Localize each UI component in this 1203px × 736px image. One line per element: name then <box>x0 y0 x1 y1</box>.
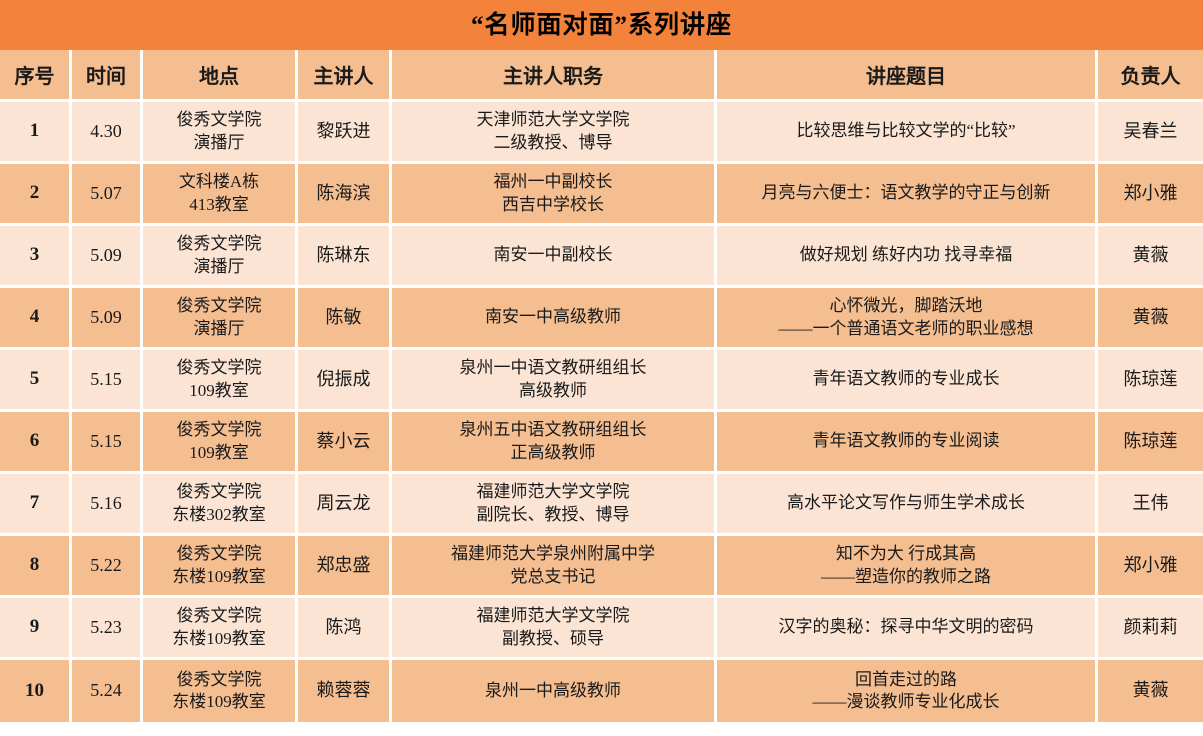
cell-topic: 汉字的奥秘：探寻中华文明的密码 <box>717 598 1098 660</box>
table-row: 85.22俊秀文学院东楼109教室郑忠盛福建师范大学泉州附属中学党总支书记知不为… <box>0 536 1203 598</box>
cell-topic: 青年语文教师的专业成长 <box>717 350 1098 412</box>
column-header-time: 时间 <box>72 50 143 102</box>
cell-owner: 黄薇 <box>1098 288 1203 350</box>
cell-time: 5.22 <box>72 536 143 598</box>
cell-speaker: 陈鸿 <box>298 598 392 660</box>
cell-time: 5.07 <box>72 164 143 226</box>
cell-role: 福建师范大学文学院副教授、硕导 <box>392 598 717 660</box>
title-bar: “名师面对面”系列讲座 <box>0 0 1203 50</box>
cell-role: 天津师范大学文学院二级教授、博导 <box>392 102 717 164</box>
cell-place: 俊秀文学院演播厅 <box>143 102 298 164</box>
cell-owner: 吴春兰 <box>1098 102 1203 164</box>
cell-speaker: 陈琳东 <box>298 226 392 288</box>
cell-topic: 心怀微光，脚踏沃地——一个普通语文老师的职业感想 <box>717 288 1098 350</box>
cell-speaker: 黎跃进 <box>298 102 392 164</box>
cell-owner: 颜莉莉 <box>1098 598 1203 660</box>
cell-index: 2 <box>0 164 72 226</box>
cell-role: 泉州五中语文教研组组长正高级教师 <box>392 412 717 474</box>
cell-role: 南安一中副校长 <box>392 226 717 288</box>
column-header-topic: 讲座题目 <box>717 50 1098 102</box>
table-row: 75.16俊秀文学院东楼302教室周云龙福建师范大学文学院副院长、教授、博导高水… <box>0 474 1203 536</box>
table-header: 序号 时间 地点 主讲人 主讲人职务 讲座题目 负责人 <box>0 50 1203 102</box>
cell-owner: 黄薇 <box>1098 660 1203 722</box>
cell-topic: 回首走过的路——漫谈教师专业化成长 <box>717 660 1098 722</box>
table-header-row: 序号 时间 地点 主讲人 主讲人职务 讲座题目 负责人 <box>0 50 1203 102</box>
cell-index: 10 <box>0 660 72 722</box>
cell-time: 5.23 <box>72 598 143 660</box>
cell-owner: 郑小雅 <box>1098 164 1203 226</box>
cell-role: 泉州一中语文教研组组长高级教师 <box>392 350 717 412</box>
cell-owner: 陈琼莲 <box>1098 350 1203 412</box>
cell-topic: 比较思维与比较文学的“比较” <box>717 102 1098 164</box>
cell-time: 4.30 <box>72 102 143 164</box>
column-header-place: 地点 <box>143 50 298 102</box>
cell-topic: 青年语文教师的专业阅读 <box>717 412 1098 474</box>
table-row: 14.30俊秀文学院演播厅黎跃进天津师范大学文学院二级教授、博导比较思维与比较文… <box>0 102 1203 164</box>
cell-speaker: 陈敏 <box>298 288 392 350</box>
cell-time: 5.15 <box>72 412 143 474</box>
cell-role: 福建师范大学文学院副院长、教授、博导 <box>392 474 717 536</box>
cell-speaker: 陈海滨 <box>298 164 392 226</box>
cell-role: 南安一中高级教师 <box>392 288 717 350</box>
table-row: 105.24俊秀文学院东楼109教室赖蓉蓉泉州一中高级教师回首走过的路——漫谈教… <box>0 660 1203 722</box>
cell-owner: 陈琼莲 <box>1098 412 1203 474</box>
cell-owner: 郑小雅 <box>1098 536 1203 598</box>
cell-index: 5 <box>0 350 72 412</box>
cell-place: 文科楼A栋413教室 <box>143 164 298 226</box>
table-row: 35.09俊秀文学院演播厅陈琳东南安一中副校长做好规划 练好内功 找寻幸福黄薇 <box>0 226 1203 288</box>
column-header-role: 主讲人职务 <box>392 50 717 102</box>
cell-speaker: 赖蓉蓉 <box>298 660 392 722</box>
cell-speaker: 周云龙 <box>298 474 392 536</box>
cell-owner: 黄薇 <box>1098 226 1203 288</box>
cell-role: 福建师范大学泉州附属中学党总支书记 <box>392 536 717 598</box>
cell-time: 5.09 <box>72 226 143 288</box>
cell-place: 俊秀文学院东楼109教室 <box>143 598 298 660</box>
table-row: 45.09俊秀文学院演播厅陈敏南安一中高级教师心怀微光，脚踏沃地——一个普通语文… <box>0 288 1203 350</box>
table-row: 25.07文科楼A栋413教室陈海滨福州一中副校长西吉中学校长月亮与六便士：语文… <box>0 164 1203 226</box>
cell-place: 俊秀文学院109教室 <box>143 412 298 474</box>
column-header-index: 序号 <box>0 50 72 102</box>
cell-place: 俊秀文学院演播厅 <box>143 288 298 350</box>
cell-topic: 高水平论文写作与师生学术成长 <box>717 474 1098 536</box>
cell-index: 4 <box>0 288 72 350</box>
lecture-schedule-table: 序号 时间 地点 主讲人 主讲人职务 讲座题目 负责人 14.30俊秀文学院演播… <box>0 50 1203 722</box>
table-row: 55.15俊秀文学院109教室倪振成泉州一中语文教研组组长高级教师青年语文教师的… <box>0 350 1203 412</box>
table-row: 65.15俊秀文学院109教室蔡小云泉州五中语文教研组组长正高级教师青年语文教师… <box>0 412 1203 474</box>
cell-topic: 月亮与六便士：语文教学的守正与创新 <box>717 164 1098 226</box>
table-body: 14.30俊秀文学院演播厅黎跃进天津师范大学文学院二级教授、博导比较思维与比较文… <box>0 102 1203 722</box>
cell-time: 5.15 <box>72 350 143 412</box>
column-header-speaker: 主讲人 <box>298 50 392 102</box>
cell-speaker: 郑忠盛 <box>298 536 392 598</box>
cell-time: 5.24 <box>72 660 143 722</box>
cell-index: 8 <box>0 536 72 598</box>
cell-index: 3 <box>0 226 72 288</box>
cell-index: 1 <box>0 102 72 164</box>
cell-speaker: 倪振成 <box>298 350 392 412</box>
cell-topic: 知不为大 行成其高——塑造你的教师之路 <box>717 536 1098 598</box>
cell-time: 5.16 <box>72 474 143 536</box>
cell-place: 俊秀文学院东楼302教室 <box>143 474 298 536</box>
cell-place: 俊秀文学院东楼109教室 <box>143 536 298 598</box>
cell-index: 9 <box>0 598 72 660</box>
lecture-schedule-poster: “名师面对面”系列讲座 序号 时间 地点 主讲人 主讲人职务 讲座题目 负责人 … <box>0 0 1203 736</box>
cell-role: 福州一中副校长西吉中学校长 <box>392 164 717 226</box>
cell-index: 6 <box>0 412 72 474</box>
cell-index: 7 <box>0 474 72 536</box>
column-header-owner: 负责人 <box>1098 50 1203 102</box>
cell-place: 俊秀文学院109教室 <box>143 350 298 412</box>
cell-owner: 王伟 <box>1098 474 1203 536</box>
cell-speaker: 蔡小云 <box>298 412 392 474</box>
cell-role: 泉州一中高级教师 <box>392 660 717 722</box>
cell-time: 5.09 <box>72 288 143 350</box>
cell-topic: 做好规划 练好内功 找寻幸福 <box>717 226 1098 288</box>
cell-place: 俊秀文学院演播厅 <box>143 226 298 288</box>
table-row: 95.23俊秀文学院东楼109教室陈鸿福建师范大学文学院副教授、硕导汉字的奥秘：… <box>0 598 1203 660</box>
cell-place: 俊秀文学院东楼109教室 <box>143 660 298 722</box>
page-title: “名师面对面”系列讲座 <box>471 13 732 38</box>
